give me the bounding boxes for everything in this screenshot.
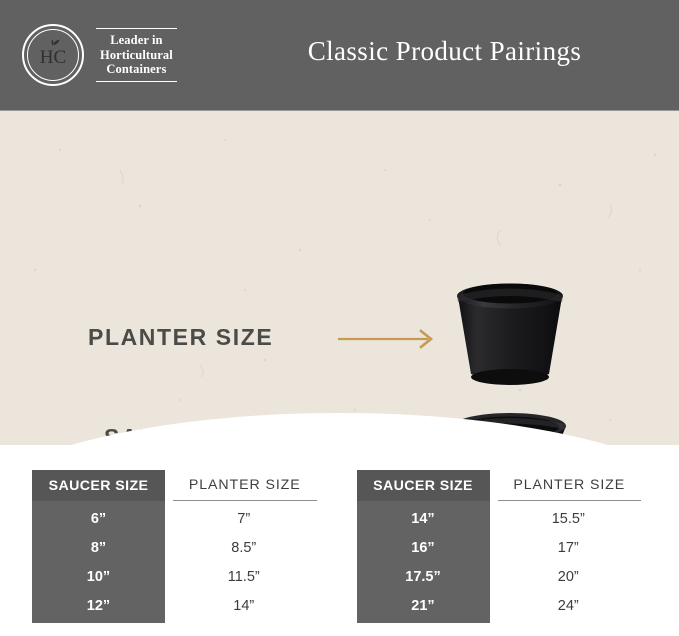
column-bottom-padding — [357, 620, 490, 623]
table-cell-saucer: 8” — [32, 533, 165, 562]
hc-monogram-icon: HC — [33, 35, 73, 75]
table-cell-saucer: 14” — [357, 504, 490, 533]
paper-texture-overlay — [0, 110, 679, 445]
table-cell-planter: 14” — [165, 591, 323, 620]
arrow-right-icon-planter — [336, 329, 440, 349]
svg-text:HC: HC — [40, 47, 66, 68]
planter-column-body: 7” 8.5” 11.5” 14” — [165, 501, 323, 623]
planter-column-small: PLANTER SIZE 7” 8.5” 11.5” 14” — [165, 470, 323, 636]
table-cell-planter: 8.5” — [165, 533, 323, 562]
column-bottom-padding — [490, 620, 648, 623]
planter-column-large: PLANTER SIZE 15.5” 17” 20” 24” — [490, 470, 648, 636]
column-bottom-padding — [32, 620, 165, 623]
table-cell-planter: 11.5” — [165, 562, 323, 591]
product-pairings-infographic: HC Leader in Horticultural Containers Cl… — [0, 0, 679, 636]
page-title: Classic Product Pairings — [0, 36, 679, 67]
planter-size-label: PLANTER SIZE — [88, 324, 273, 351]
table-cell-planter: 20” — [490, 562, 648, 591]
table-cell-saucer: 12” — [32, 591, 165, 620]
table-cell-planter: 17” — [490, 533, 648, 562]
size-tables: SAUCER SIZE 6” 8” 10” 12” PLANTER SIZE 7… — [0, 470, 679, 636]
header-bar: HC Leader in Horticultural Containers Cl… — [0, 0, 679, 110]
table-cell-planter: 24” — [490, 591, 648, 620]
black-planter-pot-image — [446, 278, 574, 390]
saucer-size-header: SAUCER SIZE — [357, 470, 490, 501]
table-cell-saucer: 10” — [32, 562, 165, 591]
table-cell-saucer: 6” — [32, 504, 165, 533]
saucer-column-body: 14” 16” 17.5” 21” — [357, 501, 490, 623]
table-cell-saucer: 21” — [357, 591, 490, 620]
table-cell-planter: 7” — [165, 504, 323, 533]
table-cell-saucer: 16” — [357, 533, 490, 562]
column-bottom-padding — [165, 620, 323, 623]
size-table-small: SAUCER SIZE 6” 8” 10” 12” PLANTER SIZE 7… — [32, 470, 323, 636]
table-cell-saucer: 17.5” — [357, 562, 490, 591]
planter-column-body: 15.5” 17” 20” 24” — [490, 501, 648, 623]
planter-size-header: PLANTER SIZE — [498, 470, 642, 501]
saucer-size-header: SAUCER SIZE — [32, 470, 165, 501]
saucer-column-large: SAUCER SIZE 14” 16” 17.5” 21” — [357, 470, 490, 636]
saucer-column-body: 6” 8” 10” 12” — [32, 501, 165, 623]
size-table-large: SAUCER SIZE 14” 16” 17.5” 21” PLANTER SI… — [357, 470, 648, 636]
hero-section: PLANTER SIZE SAUCER SIZE — [0, 110, 679, 445]
saucer-column-small: SAUCER SIZE 6” 8” 10” 12” — [32, 470, 165, 636]
planter-size-header: PLANTER SIZE — [173, 470, 317, 501]
table-cell-planter: 15.5” — [490, 504, 648, 533]
